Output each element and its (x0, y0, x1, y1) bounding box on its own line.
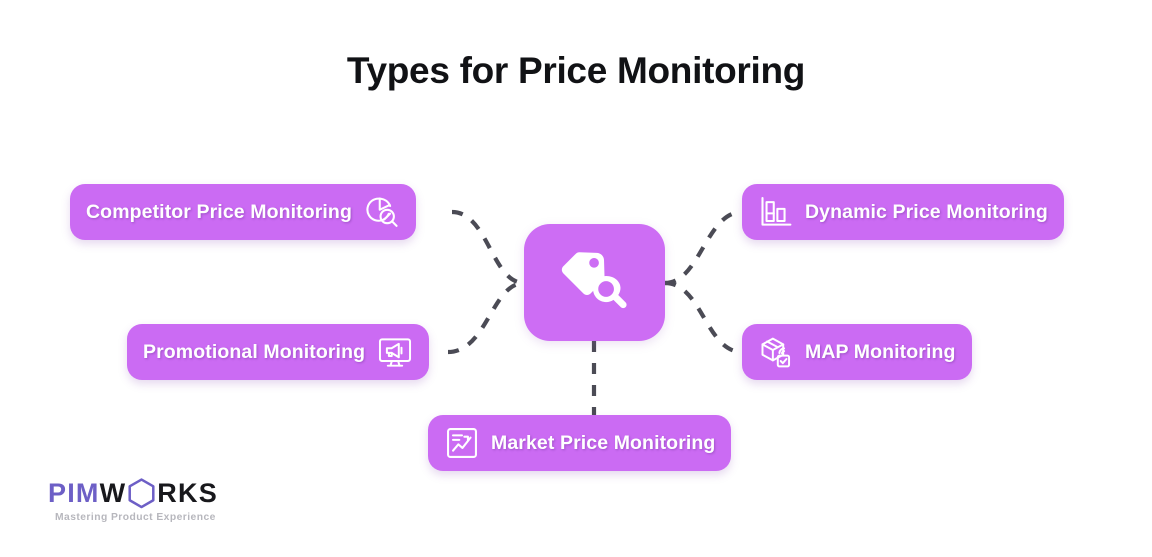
bar-chart-icon (758, 194, 794, 230)
connector-promotional (448, 283, 524, 352)
package-check-icon (758, 334, 794, 370)
card-competitor-price-monitoring[interactable]: Competitor Price Monitoring (70, 184, 416, 240)
card-label: MAP Monitoring (805, 341, 956, 364)
logo-tagline: Mastering Product Experience (55, 512, 218, 523)
logo-wordmark: PIM W RKS (48, 480, 218, 507)
card-label: Market Price Monitoring (491, 432, 715, 455)
logo-text-w: W (100, 478, 127, 509)
connector-map (665, 283, 742, 352)
logo-text-rks: RKS (157, 478, 218, 509)
center-node-price-monitoring[interactable] (524, 224, 665, 341)
pimworks-logo: PIM W RKS Mastering Product Experience (48, 480, 218, 523)
card-label: Dynamic Price Monitoring (805, 201, 1048, 224)
card-label: Promotional Monitoring (143, 341, 365, 364)
connector-competitor (452, 212, 524, 283)
line-chart-frame-icon (444, 425, 480, 461)
card-promotional-monitoring[interactable]: Promotional Monitoring (127, 324, 429, 380)
infographic-canvas: Types for Price Monitoring Competitor Pr… (0, 0, 1152, 557)
card-dynamic-price-monitoring[interactable]: Dynamic Price Monitoring (742, 184, 1064, 240)
monitor-megaphone-icon (377, 334, 413, 370)
card-label: Competitor Price Monitoring (86, 201, 352, 224)
hexagon-cube-icon (127, 478, 156, 509)
price-tag-search-icon (558, 243, 632, 322)
logo-text-pim: PIM (48, 478, 100, 509)
card-market-price-monitoring[interactable]: Market Price Monitoring (428, 415, 731, 471)
connector-dynamic (665, 212, 742, 283)
pie-chart-search-icon (364, 194, 400, 230)
card-map-monitoring[interactable]: MAP Monitoring (742, 324, 972, 380)
